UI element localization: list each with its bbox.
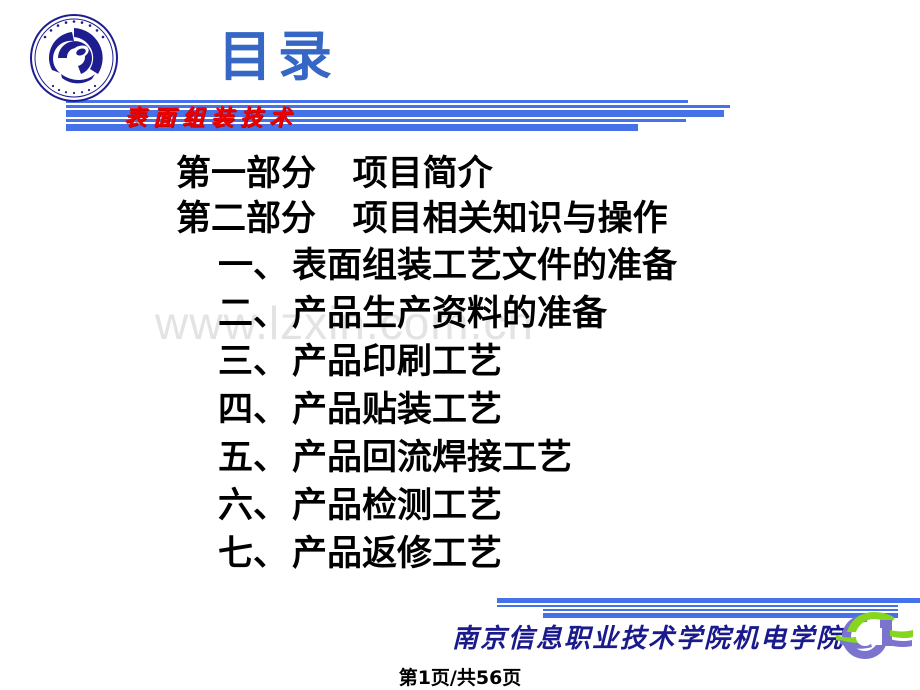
outline-part-2-label: 项目相关知识与操作: [353, 199, 668, 239]
outline-part-2-number: 第二部分: [176, 199, 316, 239]
outline-section-6: 六、产品检测工艺: [0, 482, 920, 530]
outline-section-2-number: 二、: [218, 290, 292, 338]
page-indicator: 第1页/共56页: [0, 663, 920, 690]
outline-section-2: 二、产品生产资料的准备: [0, 290, 920, 338]
outline-section-5-label: 产品回流焊接工艺: [292, 438, 572, 478]
outline-section-3-number: 三、: [218, 338, 292, 386]
outline-section-1-label: 表面组装工艺文件的准备: [292, 246, 677, 286]
footer-organization: 南京信息职业技术学院机电学院: [452, 618, 844, 655]
outline-section-1-number: 一、: [218, 242, 292, 290]
outline-section-5: 五、产品回流焊接工艺: [0, 434, 920, 482]
outline-section-3: 三、产品印刷工艺: [0, 338, 920, 386]
outline-section-2-label: 产品生产资料的准备: [292, 294, 607, 334]
outline-section-4: 四、产品贴装工艺: [0, 386, 920, 434]
outline-section-7-number: 七、: [218, 530, 292, 578]
outline-section-7: 七、产品返修工艺: [0, 530, 920, 578]
outline-section-3-label: 产品印刷工艺: [292, 342, 502, 382]
outline-part-1-label: 项目简介: [353, 154, 493, 194]
swirl-logo-icon: [834, 610, 914, 662]
footer-stripe-band: [0, 598, 920, 618]
outline-part-1-number: 第一部分: [176, 154, 316, 194]
outline-part-2: 第二部分 项目相关知识与操作: [0, 197, 920, 242]
course-title-caption: 表面组装技术: [124, 100, 298, 132]
presentation-slide: www.lzxin.com.cn: [0, 0, 920, 690]
footer-stripe-2: [497, 605, 898, 607]
university-seal-icon: [28, 12, 120, 104]
outline-section-6-number: 六、: [218, 482, 292, 530]
outline-section-5-number: 五、: [218, 434, 292, 482]
outline-section-4-label: 产品贴装工艺: [292, 390, 502, 430]
outline-section-4-number: 四、: [218, 386, 292, 434]
outline-section-6-label: 产品检测工艺: [292, 486, 502, 526]
footer-stripe-1: [497, 598, 920, 603]
outline-section-7-label: 产品返修工艺: [292, 534, 502, 574]
page-title: 目录: [218, 30, 338, 84]
outline-section-1: 一、表面组装工艺文件的准备: [0, 242, 920, 290]
outline-part-1: 第一部分 项目简介: [0, 152, 920, 197]
outline-content: 第一部分 项目简介 第二部分 项目相关知识与操作 一、表面组装工艺文件的准备 二…: [0, 152, 920, 578]
